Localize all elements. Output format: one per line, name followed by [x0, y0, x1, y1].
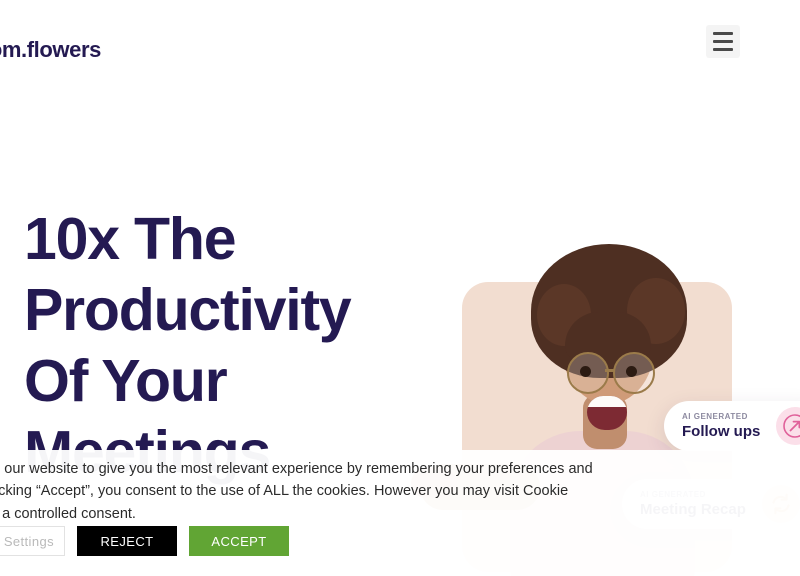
heading-line-1: 10x The — [24, 204, 424, 275]
brand-logo[interactable]: Fathom.flowers — [0, 37, 101, 63]
hamburger-menu-icon[interactable] — [706, 25, 740, 58]
eye-right — [626, 366, 637, 377]
cookie-message: We use cookies on our website to give yo… — [0, 458, 618, 525]
heading-line-3: Of Your — [24, 346, 424, 417]
page-root: Fathom.flowers 10x The Productivity Of Y… — [0, 0, 800, 576]
menu-bar-1 — [713, 32, 733, 35]
ai-card-label: AI GENERATED — [682, 411, 760, 422]
arrow-up-right-icon — [776, 407, 800, 445]
cookie-actions: Cookie Settings REJECT ACCEPT — [0, 526, 289, 556]
cookie-settings-button[interactable]: Cookie Settings — [0, 526, 65, 556]
accept-button[interactable]: ACCEPT — [189, 526, 289, 556]
heading-line-2: Productivity — [24, 275, 424, 346]
person-mouth — [587, 396, 627, 430]
person-teeth — [587, 396, 627, 407]
site-header: Fathom.flowers — [0, 0, 800, 86]
menu-bar-3 — [713, 48, 733, 51]
ai-card-follow-ups[interactable]: AI GENERATED Follow ups — [664, 401, 800, 451]
ai-card-title: Follow ups — [682, 422, 760, 442]
cookie-consent-banner: We use cookies on our website to give yo… — [0, 450, 800, 576]
glasses-bridge — [605, 369, 615, 372]
page-title: 10x The Productivity Of Your Meetings — [24, 204, 424, 488]
ai-card-text: AI GENERATED Follow ups — [682, 411, 760, 442]
reject-button[interactable]: REJECT — [77, 526, 177, 556]
menu-bar-2 — [713, 40, 733, 43]
eye-left — [580, 366, 591, 377]
